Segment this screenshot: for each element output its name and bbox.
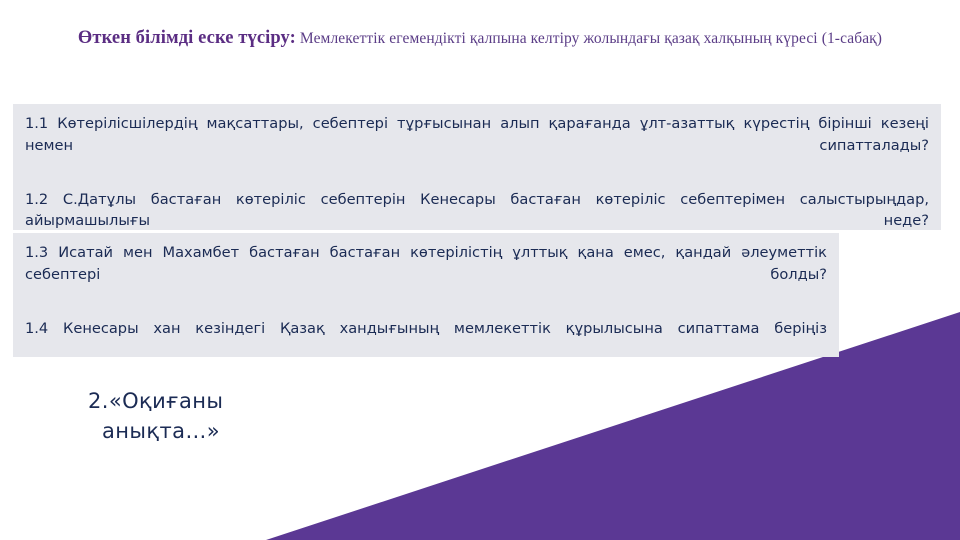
questions-panel-upper: 1.1 Көтерілісшілердің мақсаттары, себепт… <box>13 104 941 230</box>
slide-canvas: Өткен білімді еске түсіру: Мемлекеттік е… <box>0 0 960 540</box>
section-two-heading-line1: 2.«Оқиғаны <box>88 389 223 413</box>
section-two-heading-line2: анықта…» <box>88 416 388 446</box>
questions-panel-lower: 1.3 Исатай мен Махамбет бастаған бастаға… <box>13 233 839 357</box>
slide-title-rest: Мемлекеттік егемендікті қалпына келтіру … <box>300 30 882 47</box>
slide-title: Өткен білімді еске түсіру: Мемлекеттік е… <box>0 26 960 50</box>
section-two-heading: 2.«Оқиғаны анықта…» <box>88 386 388 447</box>
question-item-1-3: 1.3 Исатай мен Махамбет бастаған бастаға… <box>25 242 827 307</box>
question-item-1-1: 1.1 Көтерілісшілердің мақсаттары, себепт… <box>25 113 929 178</box>
question-item-1-4: 1.4 Кенесары хан кезіндегі Қазақ хандығы… <box>25 318 827 361</box>
slide-title-lead: Өткен білімді еске түсіру: <box>78 28 296 48</box>
